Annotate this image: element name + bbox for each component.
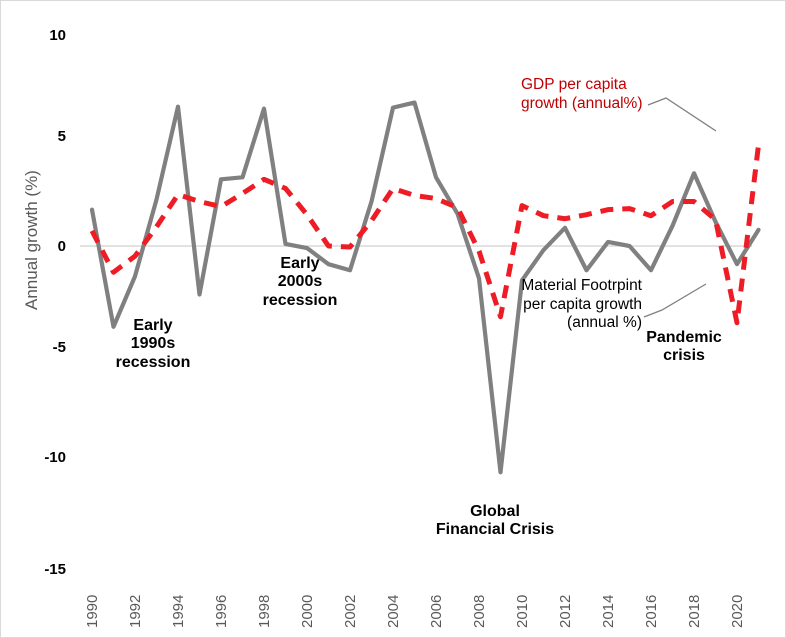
x-tick-2014: 2014 [601,595,616,628]
y-tick-neg15: -15 [20,562,66,577]
annotation-global-financial-crisis: Global Financial Crisis [400,503,590,540]
y-tick-5: 5 [20,129,66,144]
annotation-early-2000s-recession: Early 2000s recession [250,255,350,310]
x-tick-1998: 1998 [257,595,272,628]
x-tick-2010: 2010 [515,595,530,628]
x-tick-2008: 2008 [472,595,487,628]
series-label-material-footprint: Material Footrpint per capita growth (an… [490,277,642,333]
x-tick-2004: 2004 [386,595,401,628]
x-tick-1994: 1994 [171,595,186,628]
x-tick-2016: 2016 [644,595,659,628]
x-tick-2012: 2012 [558,595,573,628]
x-tick-1996: 1996 [214,595,229,628]
y-tick-0: 0 [20,239,66,254]
x-tick-1990: 1990 [85,595,100,628]
annotation-early-1990s-recession: Early 1990s recession [103,317,203,372]
annotation-pandemic-crisis: Pandemic crisis [625,329,743,366]
x-tick-2020: 2020 [730,595,745,628]
y-tick-10: 10 [20,28,66,43]
y-tick-neg10: -10 [20,450,66,465]
chart-container: Annual growth (%) 10 5 0 -5 -10 -15 1990… [0,0,786,638]
x-tick-2002: 2002 [343,595,358,628]
x-tick-2000: 2000 [300,595,315,628]
x-tick-2006: 2006 [429,595,444,628]
y-tick-neg5: -5 [20,340,66,355]
x-tick-2018: 2018 [687,595,702,628]
series-label-gdp-per-capita: GDP per capita growth (annual%) [521,76,691,113]
x-tick-1992: 1992 [128,595,143,628]
